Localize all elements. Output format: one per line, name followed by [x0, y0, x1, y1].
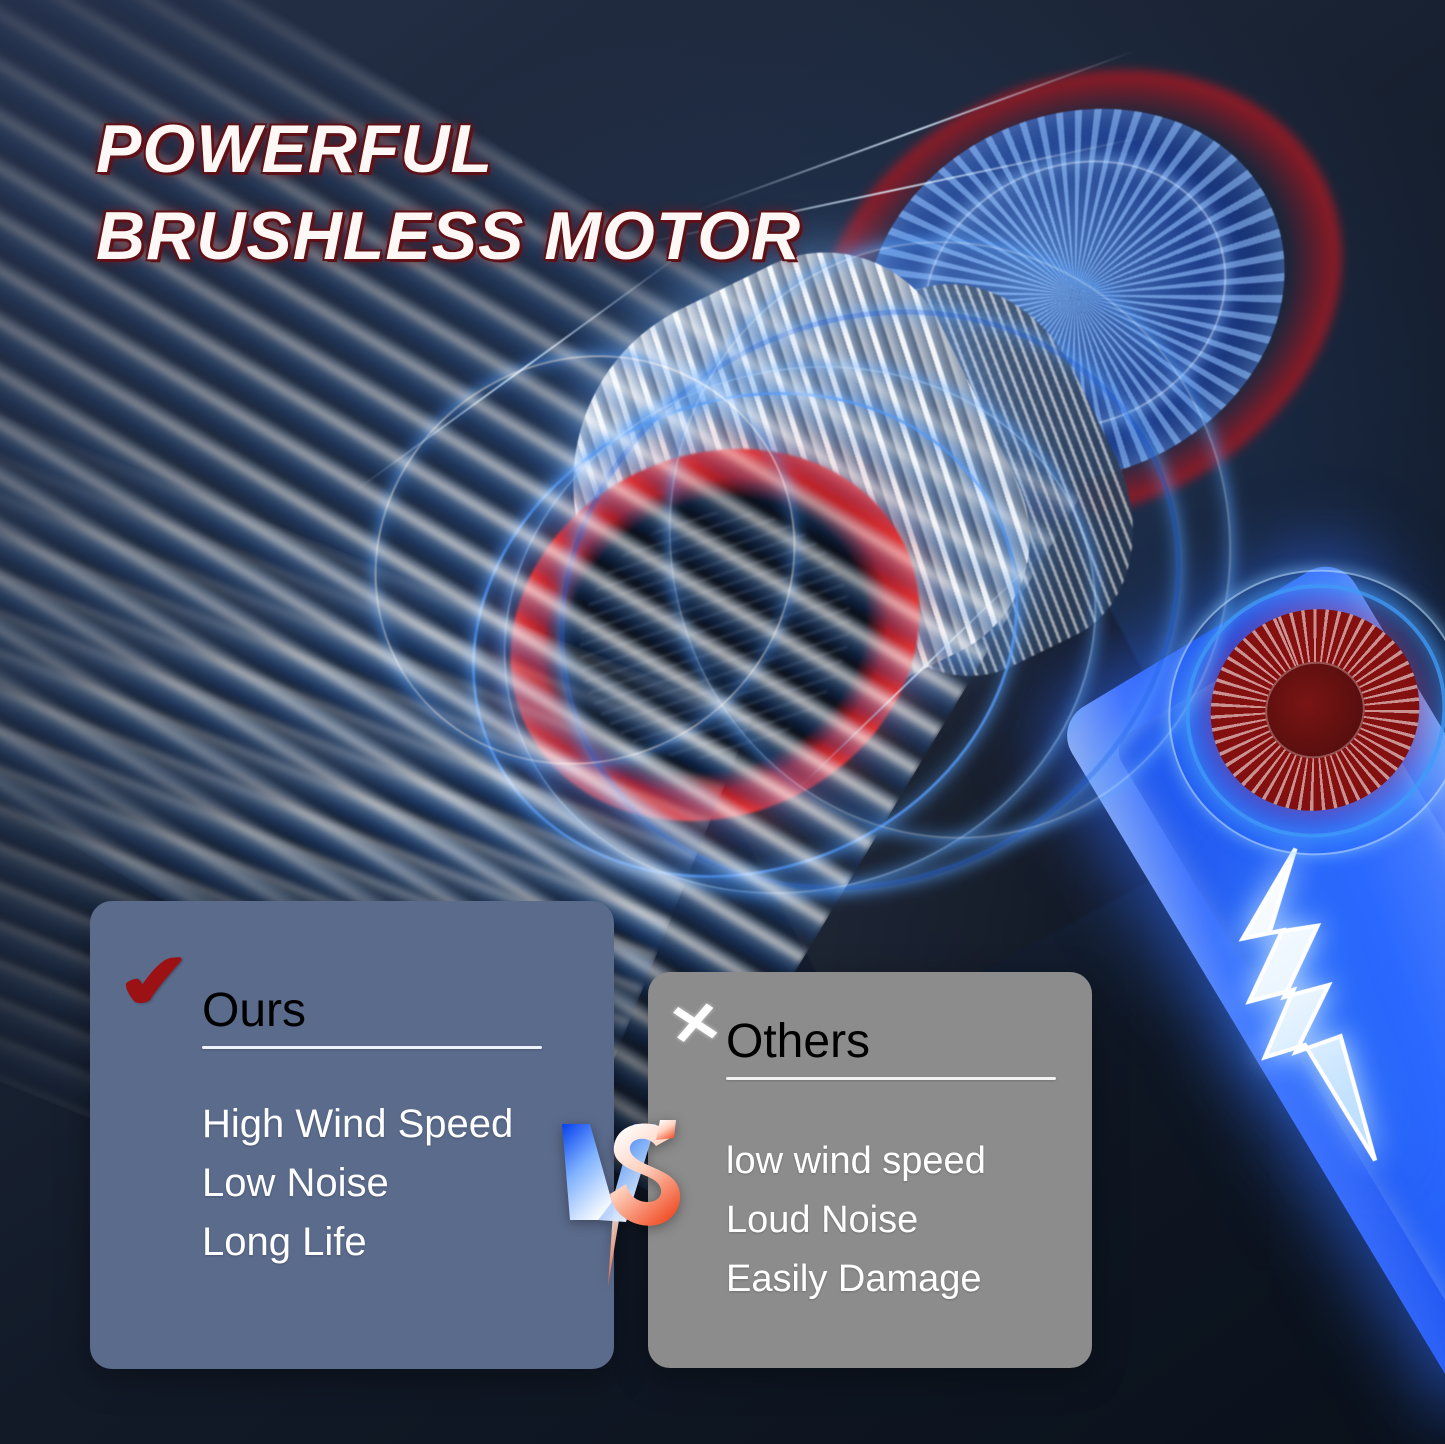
- light-streak: [797, 552, 1043, 790]
- ours-card: ✔ Ours High Wind Speed Low Noise Long Li…: [90, 901, 614, 1369]
- x-mark-icon: ✕: [664, 993, 726, 1055]
- airflow-swirl-ring: [295, 274, 875, 846]
- light-streak: [350, 247, 691, 495]
- others-heading-underline: [726, 1077, 1056, 1080]
- ours-heading-underline: [202, 1046, 542, 1049]
- ours-heading: Ours: [202, 983, 542, 1038]
- others-feature-list: low wind speed Loud Noise Easily Damage: [726, 1132, 1056, 1309]
- motor-fan-cage: [805, 43, 1344, 547]
- others-card: ✕ Others low wind speed Loud Noise Easil…: [648, 972, 1092, 1368]
- airflow-swirl-ring: [394, 306, 1097, 963]
- motor-stator-windings: [507, 210, 1073, 781]
- promo-image-canvas: POWERFUL BRUSHLESS MOTOR ✔ Ours High Win…: [0, 0, 1445, 1444]
- lightning-bolt-icon: [1169, 835, 1415, 1166]
- red-fan-rotor: [1180, 578, 1445, 842]
- dryer-handle: [1054, 554, 1445, 1393]
- fan-glow-ring-outer: [1138, 538, 1445, 887]
- motor-rotor-core: [742, 243, 1178, 716]
- motor-front-red-ring: [447, 381, 982, 889]
- airflow-swirl-ring: [606, 181, 1295, 899]
- others-content: Others low wind speed Loud Noise Easily …: [726, 1014, 1056, 1309]
- airflow-swirl-ring: [434, 290, 1165, 970]
- dryer-barrel-body: [598, 361, 1231, 1040]
- ours-content: Ours High Wind Speed Low Noise Long Life: [202, 983, 542, 1273]
- page-title: POWERFUL BRUSHLESS MOTOR: [96, 106, 801, 280]
- check-mark-icon: ✔: [112, 942, 199, 1022]
- fan-glow-ring-inner: [1147, 545, 1445, 877]
- airflow-swirl-ring: [453, 198, 1287, 1003]
- ours-feature-list: High Wind Speed Low Noise Long Life: [202, 1095, 542, 1273]
- motor-red-halo: [746, 0, 1414, 601]
- others-heading: Others: [726, 1014, 1056, 1069]
- handle-inner-panel: [1111, 620, 1445, 1373]
